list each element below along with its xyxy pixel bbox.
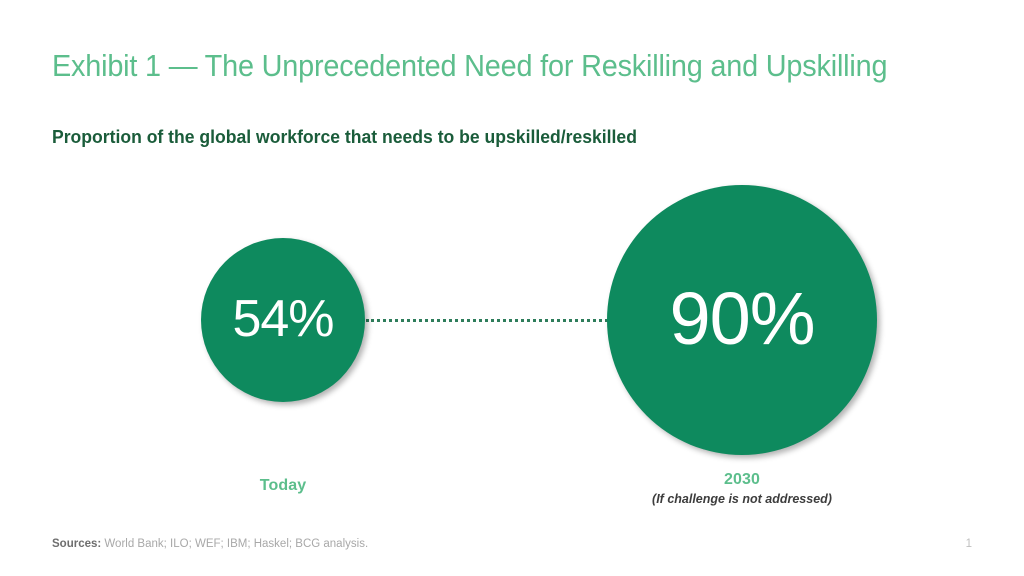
bubble-today-value: 54% bbox=[232, 293, 333, 345]
bubble-2030-category: 2030 bbox=[724, 471, 760, 488]
bubble-2030-value: 90% bbox=[669, 282, 814, 356]
sources-footnote: Sources: World Bank; ILO; WEF; IBM; Hask… bbox=[52, 538, 368, 550]
page-number: 1 bbox=[966, 538, 972, 550]
bubble-connector-line bbox=[366, 319, 608, 325]
sources-text: World Bank; ILO; WEF; IBM; Haskel; BCG a… bbox=[101, 538, 368, 550]
bubble-2030-note: (If challenge is not addressed) bbox=[642, 492, 842, 506]
bubble-2030: 90% bbox=[607, 185, 877, 455]
bubble-today-label: Today bbox=[183, 477, 383, 495]
bubble-chart: 54% 90% Today 2030 (If challenge is not … bbox=[0, 0, 1024, 576]
bubble-today-category: Today bbox=[260, 477, 306, 494]
sources-label: Sources: bbox=[52, 538, 101, 550]
slide: Exhibit 1 — The Unprecedented Need for R… bbox=[0, 0, 1024, 576]
bubble-today: 54% bbox=[201, 238, 365, 402]
bubble-2030-label: 2030 (If challenge is not addressed) bbox=[642, 471, 842, 506]
